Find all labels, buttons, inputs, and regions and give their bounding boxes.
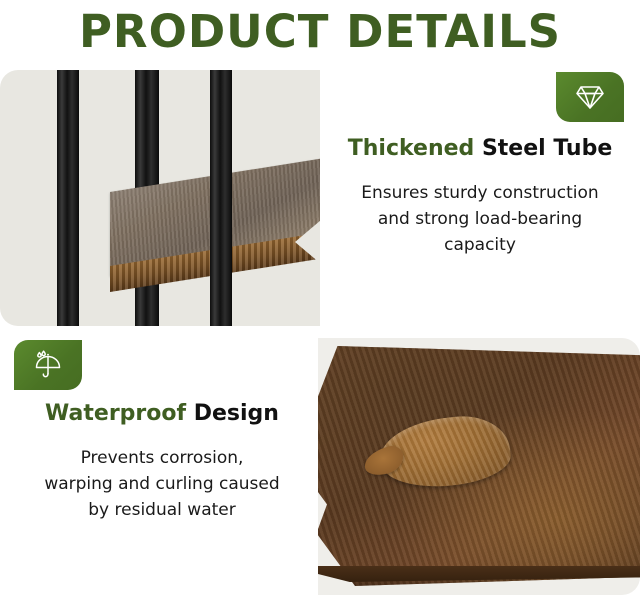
- waterproof-heading-highlight: Waterproof: [45, 401, 186, 426]
- steel-tube-body-line-1: Ensures sturdy construction: [330, 180, 630, 206]
- steel-tube-image-panel: [0, 70, 320, 326]
- waterproof-body-line-1: Prevents corrosion,: [8, 445, 316, 471]
- waterproof-image-panel: [318, 338, 640, 595]
- shelf-notch: [295, 220, 320, 264]
- steel-tube-right: [210, 70, 232, 326]
- diamond-icon: [575, 84, 605, 110]
- waterproof-heading: Waterproof Design: [8, 400, 316, 429]
- steel-tube-heading-rest: Steel Tube: [474, 136, 612, 161]
- steel-tube-left: [57, 70, 79, 326]
- diamond-badge: [556, 72, 624, 122]
- steel-tube-heading: Thickened Steel Tube: [330, 135, 630, 164]
- waterproof-heading-rest: Design: [186, 401, 279, 426]
- steel-tube-text-block: Thickened Steel Tube Ensures sturdy cons…: [330, 135, 630, 259]
- waterproof-body: Prevents corrosion, warping and curling …: [8, 445, 316, 524]
- waterproof-body-line-3: by residual water: [8, 497, 316, 523]
- waterproof-text-block: Waterproof Design Prevents corrosion, wa…: [8, 400, 316, 524]
- steel-tube-body-line-2: and strong load-bearing: [330, 206, 630, 232]
- wood-tabletop-edge: [318, 566, 640, 582]
- umbrella-rain-icon: [32, 350, 64, 380]
- waterproof-body-line-2: warping and curling caused: [8, 471, 316, 497]
- steel-tube-body: Ensures sturdy construction and strong l…: [330, 180, 630, 259]
- steel-tube-body-line-3: capacity: [330, 232, 630, 258]
- umbrella-badge: [14, 340, 82, 390]
- page-title: PRODUCT DETAILS: [0, 0, 640, 62]
- steel-tube-heading-highlight: Thickened: [348, 136, 475, 161]
